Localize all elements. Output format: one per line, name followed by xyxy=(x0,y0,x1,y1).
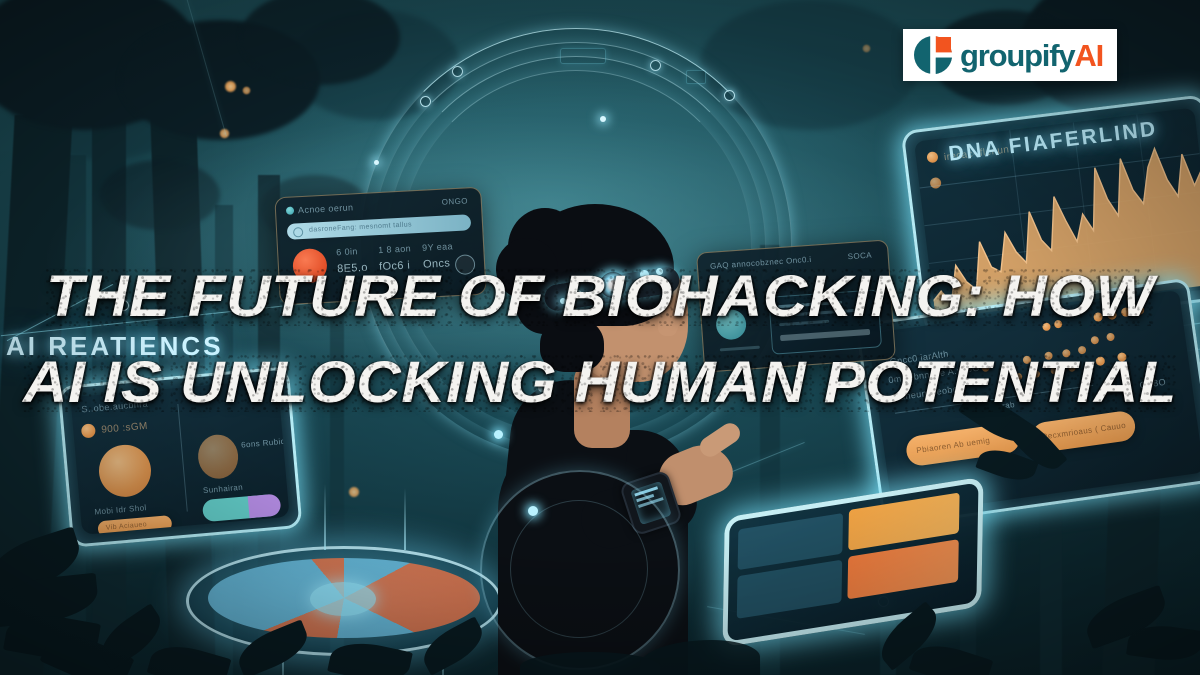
diagnostics-tag: SOCA xyxy=(847,251,872,262)
badge-right-caption: 6ons Rubioe xyxy=(241,436,290,449)
headline-line-1-text: THE FUTURE OF BIOHACKING: HOW xyxy=(46,264,1154,329)
badge-right xyxy=(196,433,240,480)
stat-0-value: 6 0in xyxy=(336,246,358,257)
badge-left xyxy=(97,443,153,499)
groupify-circle-mark xyxy=(913,35,953,75)
stat-2-value: 9Y eaa xyxy=(422,241,453,253)
tablet-cta-label: Vib Aciaueo xyxy=(106,521,148,532)
badge-left-caption: Mobi Idr Shol xyxy=(94,503,147,517)
headline-line-2: AI IS UNLOCKING HUMAN POTENTIAL xyxy=(0,354,1200,412)
toggle-knob[interactable] xyxy=(248,493,282,518)
groupify-wordmark: groupifyAI xyxy=(960,40,1103,71)
status-dot xyxy=(286,206,294,214)
tablet-cta-button[interactable]: Vib Aciaueo xyxy=(97,515,172,535)
headline-line-1: THE FUTURE OF BIOHACKING: HOW xyxy=(0,268,1200,326)
stat-1-value: 1 8 aon xyxy=(378,243,411,255)
groupify-logo[interactable]: groupifyAI xyxy=(903,29,1117,81)
logo-text-primary: groupify xyxy=(960,38,1074,73)
sub-caption: Sunhairan xyxy=(203,483,244,495)
search-input[interactable]: dasroneFang: mesnomt tallus xyxy=(287,214,472,240)
search-placeholder: dasroneFang: mesnomt tallus xyxy=(309,221,412,233)
monitor-button-2-label: Recxmrioaus ( Cauuo xyxy=(1041,421,1126,442)
search-panel-title: Acnoe oerun xyxy=(298,202,354,215)
search-panel-tag: ONGO xyxy=(442,196,468,206)
headline-line-2-text: AI IS UNLOCKING HUMAN POTENTIAL xyxy=(23,350,1177,415)
metric-label: 900 :sGM xyxy=(101,421,148,436)
metric-dot xyxy=(81,423,96,438)
hero-banner: irecac- flenun DNA FIAFERLIND xyxy=(0,0,1200,675)
search-icon xyxy=(293,227,304,238)
logo-text-accent: AI xyxy=(1074,38,1103,73)
monitor-button-1-label: Pbiaoren Ab uemig xyxy=(916,436,991,455)
